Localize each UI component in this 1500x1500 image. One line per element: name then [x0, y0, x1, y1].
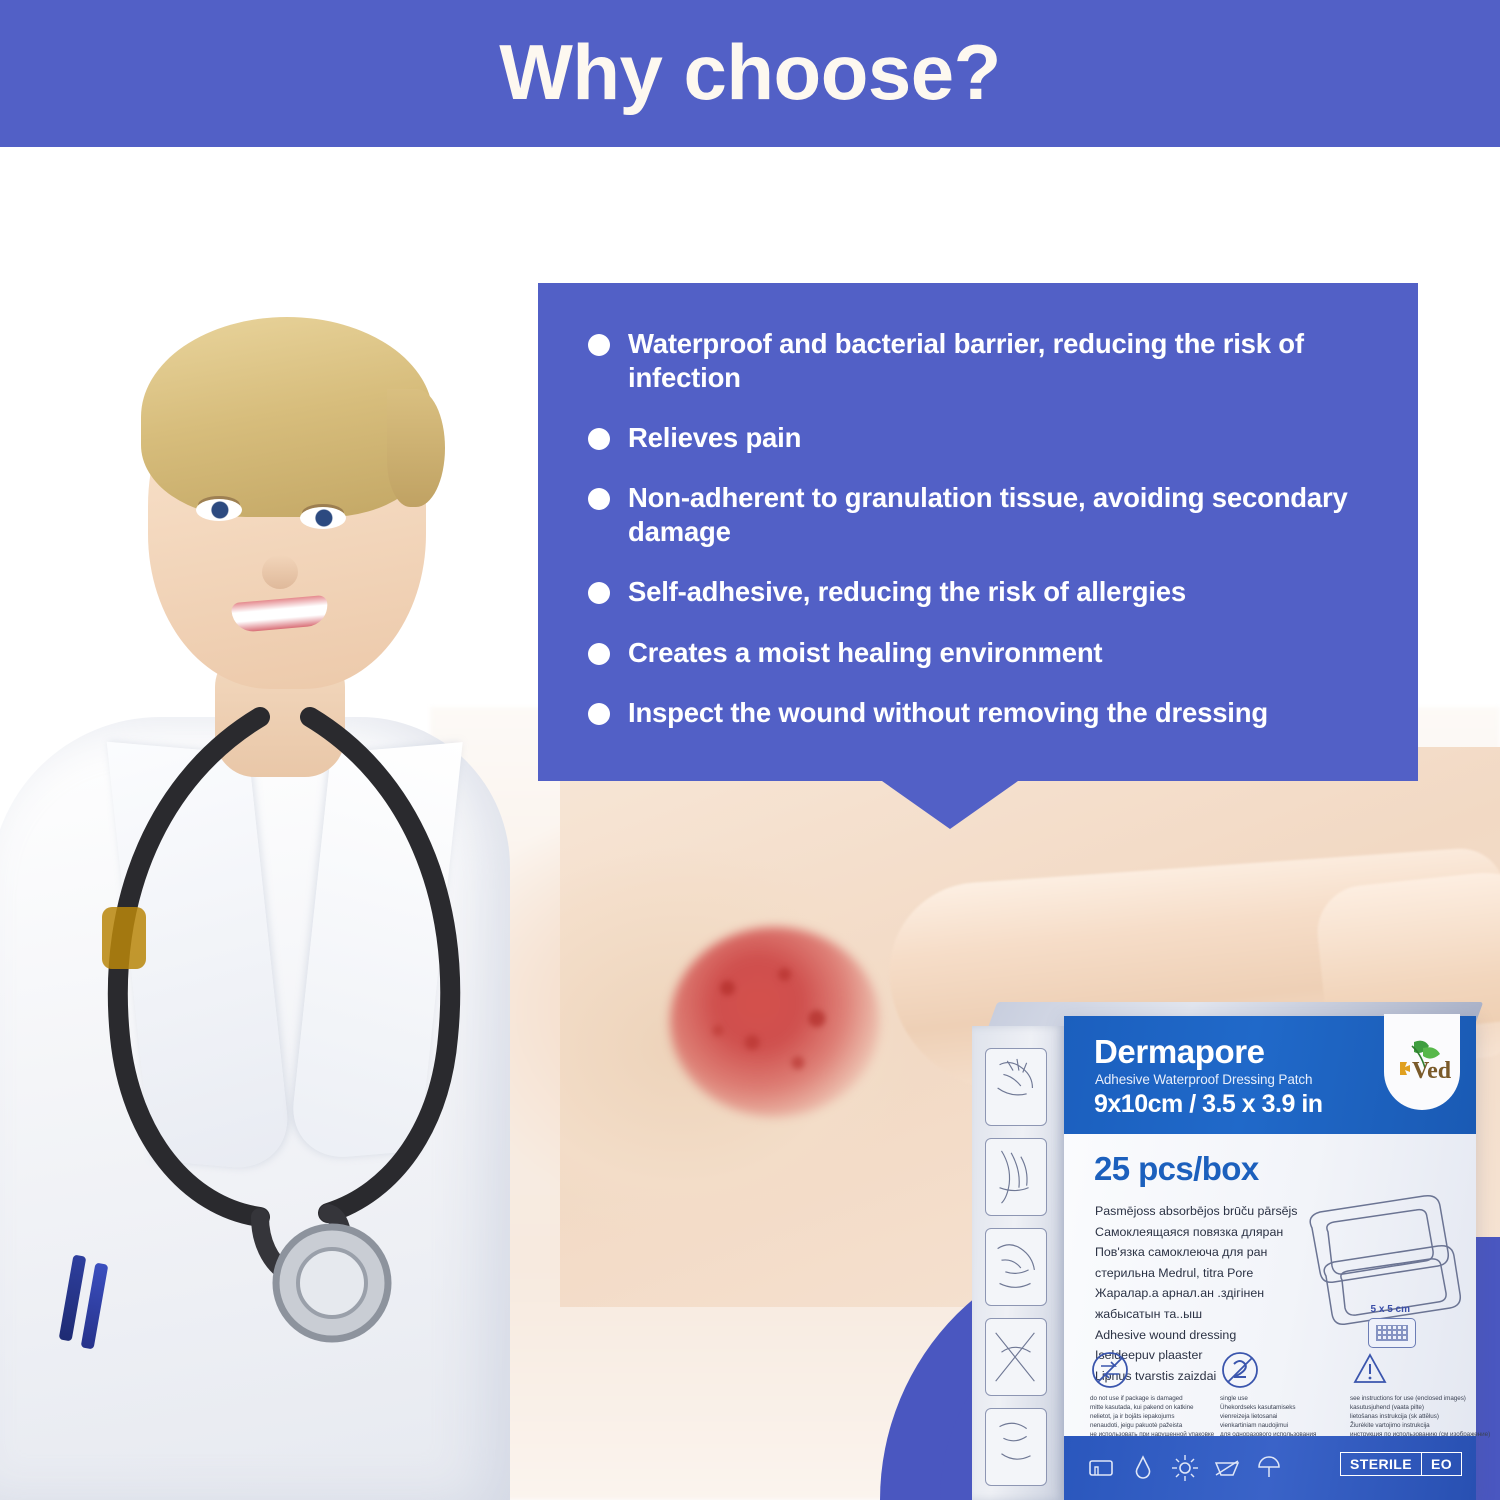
picto-apply-dressing-icon: [985, 1228, 1047, 1306]
pad-size-icon: [1368, 1318, 1416, 1348]
list-item: Non-adherent to granulation tissue, avoi…: [588, 481, 1388, 549]
consult-instructions-icon: [1350, 1350, 1390, 1390]
symbol-line: kasutusjuhend (vaata pilte): [1350, 1404, 1462, 1413]
brand-size: 9x10cm / 3.5 x 3.9 in: [1094, 1090, 1323, 1119]
bullet-dot-icon: [588, 428, 610, 450]
sterile-label: STERILE: [1341, 1453, 1421, 1475]
list-item: Self-adhesive, reducing the risk of alle…: [588, 575, 1388, 609]
hair: [141, 317, 433, 517]
brand-subtitle: Adhesive Waterproof Dressing Patch: [1095, 1072, 1312, 1087]
picto-dispose-icon: [985, 1408, 1047, 1486]
keep-dry-icon: [1128, 1453, 1158, 1483]
page-title: Why choose?: [499, 33, 1001, 111]
lang-line: жабысатын та..ыш: [1095, 1305, 1305, 1324]
nose: [262, 555, 298, 589]
benefits-list: Waterproof and bacterial barrier, reduci…: [588, 327, 1388, 730]
box-front-face: Dermapore Adhesive Waterproof Dressing P…: [1064, 1016, 1476, 1500]
latex-free-icon: [1212, 1453, 1242, 1483]
box-bottom-strip: STERILE EO: [1064, 1436, 1476, 1500]
ved-logo: Ved: [1384, 1014, 1460, 1110]
pack-quantity: 25 pcs/box: [1094, 1150, 1259, 1188]
single-use-icon: [1220, 1350, 1260, 1390]
symbol-line: do not use if package is damaged: [1090, 1395, 1202, 1404]
list-item: Relieves pain: [588, 421, 1388, 455]
page-header: Why choose?: [0, 0, 1500, 147]
bullet-dot-icon: [588, 334, 610, 356]
symbol-line: see instructions for use (enclosed image…: [1350, 1395, 1462, 1404]
storage-condition-icons: [1086, 1450, 1326, 1486]
benefits-panel: Waterproof and bacterial barrier, reduci…: [538, 283, 1418, 781]
symbol-line: lietošanas instrukcija (sk attēlus): [1350, 1413, 1462, 1422]
symbol-line: Ühekordseks kasutamiseks: [1220, 1404, 1332, 1413]
benefit-text: Creates a moist healing environment: [628, 636, 1102, 670]
lang-line: стерильна Medrul, titra Pore: [1095, 1264, 1305, 1283]
hero-stage: Waterproof and bacterial barrier, reduci…: [0, 147, 1500, 1500]
wound-texture: [680, 937, 870, 1107]
instruction-pictograms: [985, 1048, 1051, 1498]
stethoscope-icon: [10, 707, 530, 1407]
speech-bubble-tail: [882, 781, 1018, 829]
picto-peel-backing-icon: [985, 1138, 1047, 1216]
brand-name: Dermapore: [1094, 1033, 1265, 1071]
symbol-line: vienreizeja lietosanai: [1220, 1413, 1332, 1422]
bullet-dot-icon: [588, 582, 610, 604]
lang-line: Пов'язка самоклеюча для ран: [1095, 1243, 1305, 1262]
bullet-dot-icon: [588, 643, 610, 665]
sterile-method: EO: [1421, 1453, 1461, 1475]
lang-line: Жаралар.а арнал.ан .здігінен: [1095, 1284, 1305, 1303]
benefit-text: Self-adhesive, reducing the risk of alle…: [628, 575, 1186, 609]
symbol-line: mitte kasutada, kui pakend on katkine: [1090, 1404, 1202, 1413]
keep-away-from-rain-icon: [1254, 1453, 1284, 1483]
list-item: Creates a moist healing environment: [588, 636, 1388, 670]
benefit-text: Waterproof and bacterial barrier, reduci…: [628, 327, 1388, 395]
picto-smooth-edges-icon: [985, 1318, 1047, 1396]
lang-line: Pasmējoss absorbējos brūču pārsējs: [1095, 1202, 1305, 1221]
bullet-dot-icon: [588, 488, 610, 510]
benefit-text: Relieves pain: [628, 421, 801, 455]
list-item: Inspect the wound without removing the d…: [588, 696, 1388, 730]
list-item: Waterproof and bacterial barrier, reduci…: [588, 327, 1388, 395]
eye-right: [300, 507, 346, 529]
symbol-line: Žiurėkite vartojimo instrukcija: [1350, 1422, 1462, 1431]
lang-line: Adhesive wound dressing: [1095, 1326, 1305, 1345]
benefit-text: Inspect the wound without removing the d…: [628, 696, 1268, 730]
lang-line: Самоклеящаяся повязка дляран: [1095, 1223, 1305, 1242]
svg-text:Ved: Ved: [1412, 1058, 1452, 1084]
symbol-line: nelietot, ja ir bojāts iepakojums: [1090, 1413, 1202, 1422]
keep-away-from-sunlight-icon: [1170, 1453, 1200, 1483]
box-side-panel: [972, 1026, 1064, 1500]
benefit-text: Non-adherent to granulation tissue, avoi…: [628, 481, 1388, 549]
symbol-line: single use: [1220, 1395, 1332, 1404]
symbol-line: nenaudoti, jeigu pakuotė pažeista: [1090, 1422, 1202, 1431]
eye-left: [196, 499, 242, 521]
do-not-use-if-damaged-icon: [1090, 1350, 1130, 1390]
product-box: Dermapore Adhesive Waterproof Dressing P…: [952, 1002, 1500, 1500]
symbol-line: vienkartiniam naudojimui: [1220, 1422, 1332, 1431]
picto-clean-wound-icon: [985, 1048, 1047, 1126]
doctor-photo: [10, 147, 530, 1500]
pad-size-label: 5 x 5 cm: [1371, 1304, 1410, 1315]
bullet-dot-icon: [588, 703, 610, 725]
sterile-badge: STERILE EO: [1340, 1452, 1462, 1476]
lot-icon: [1086, 1453, 1116, 1483]
